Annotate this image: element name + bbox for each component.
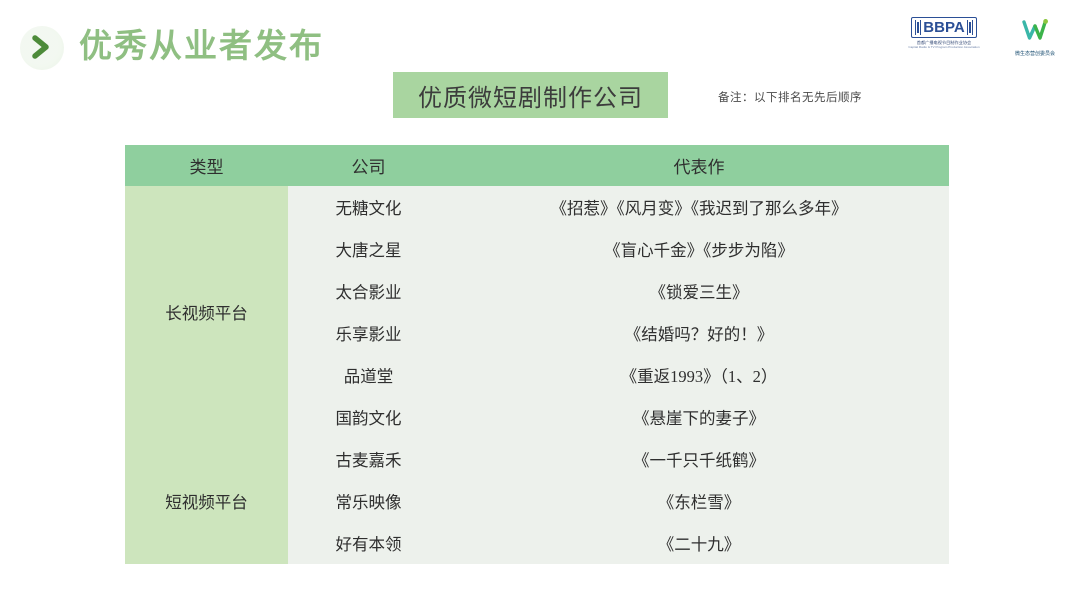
- works-cell: 《结婚吗？好的！》: [449, 312, 949, 354]
- wj-logo-icon: [1021, 19, 1049, 48]
- works-cell: 《一千只千纸鹤》: [449, 438, 949, 480]
- works-cell: 《悬崖下的妻子》: [449, 396, 949, 438]
- works-cell: 《东栏雪》: [449, 480, 949, 522]
- chevron-right-icon: [18, 24, 70, 72]
- company-cell: 太合影业: [288, 270, 449, 312]
- company-cell: 无糖文化: [288, 186, 449, 228]
- companies-table: 类型 公司 代表作 长视频平台 无糖文化 《招惹》《风月变》《我迟到了那么多年》…: [125, 145, 949, 564]
- page-title: 优秀从业者发布: [79, 19, 324, 67]
- slide-header: 优秀从业者发布 BBPA 首都广播电视节目制作业协会 Capital Radio…: [0, 0, 1080, 80]
- company-cell: 品道堂: [288, 354, 449, 396]
- section-banner: 优质微短剧制作公司: [393, 72, 668, 118]
- bbpa-en-name: Capital Radio & TV Program Production As…: [908, 45, 979, 49]
- table-body: 长视频平台 无糖文化 《招惹》《风月变》《我迟到了那么多年》 大唐之星 《盲心千…: [125, 186, 949, 564]
- company-cell: 好有本领: [288, 522, 449, 564]
- category-cell-long-video: 长视频平台: [125, 186, 288, 438]
- works-cell: 《锁爱三生》: [449, 270, 949, 312]
- banner-title: 优质微短剧制作公司: [418, 78, 643, 113]
- table-row: 长视频平台 无糖文化 《招惹》《风月变》《我迟到了那么多年》: [125, 186, 949, 228]
- logo-group: BBPA 首都广播电视节目制作业协会 Capital Radio & TV Pr…: [903, 17, 1071, 57]
- company-cell: 古麦嘉禾: [288, 438, 449, 480]
- works-cell: 《盲心千金》《步步为陷》: [449, 228, 949, 270]
- table-head: 类型 公司 代表作: [125, 145, 949, 186]
- works-cell: 《二十九》: [449, 522, 949, 564]
- table-row: 短视频平台 古麦嘉禾 《一千只千纸鹤》: [125, 438, 949, 480]
- company-cell: 大唐之星: [288, 228, 449, 270]
- bbpa-logo-mark: BBPA: [911, 17, 977, 38]
- bbpa-right-bars-icon: [967, 20, 974, 35]
- bbpa-wordmark: BBPA: [923, 19, 964, 36]
- company-cell: 乐享影业: [288, 312, 449, 354]
- company-cell: 国韵文化: [288, 396, 449, 438]
- category-cell-short-video: 短视频平台: [125, 438, 288, 564]
- company-cell: 常乐映像: [288, 480, 449, 522]
- column-header-company: 公司: [288, 145, 449, 186]
- table-header-row: 类型 公司 代表作: [125, 145, 949, 186]
- column-header-category: 类型: [125, 145, 288, 186]
- works-cell: 《重返1993》（1、2）: [449, 354, 949, 396]
- wj-logo: 微生态营创委员会: [999, 17, 1071, 57]
- column-header-works: 代表作: [449, 145, 949, 186]
- ranking-note: 备注：以下排名无先后顺序: [718, 89, 862, 105]
- bbpa-cn-name: 首都广播电视节目制作业协会: [917, 40, 971, 45]
- bbpa-left-bars-icon: [915, 20, 922, 35]
- bbpa-logo: BBPA 首都广播电视节目制作业协会 Capital Radio & TV Pr…: [903, 17, 985, 49]
- works-cell: 《招惹》《风月变》《我迟到了那么多年》: [449, 186, 949, 228]
- companies-table-container: 类型 公司 代表作 长视频平台 无糖文化 《招惹》《风月变》《我迟到了那么多年》…: [125, 145, 949, 561]
- wj-cn-name: 微生态营创委员会: [1015, 51, 1055, 57]
